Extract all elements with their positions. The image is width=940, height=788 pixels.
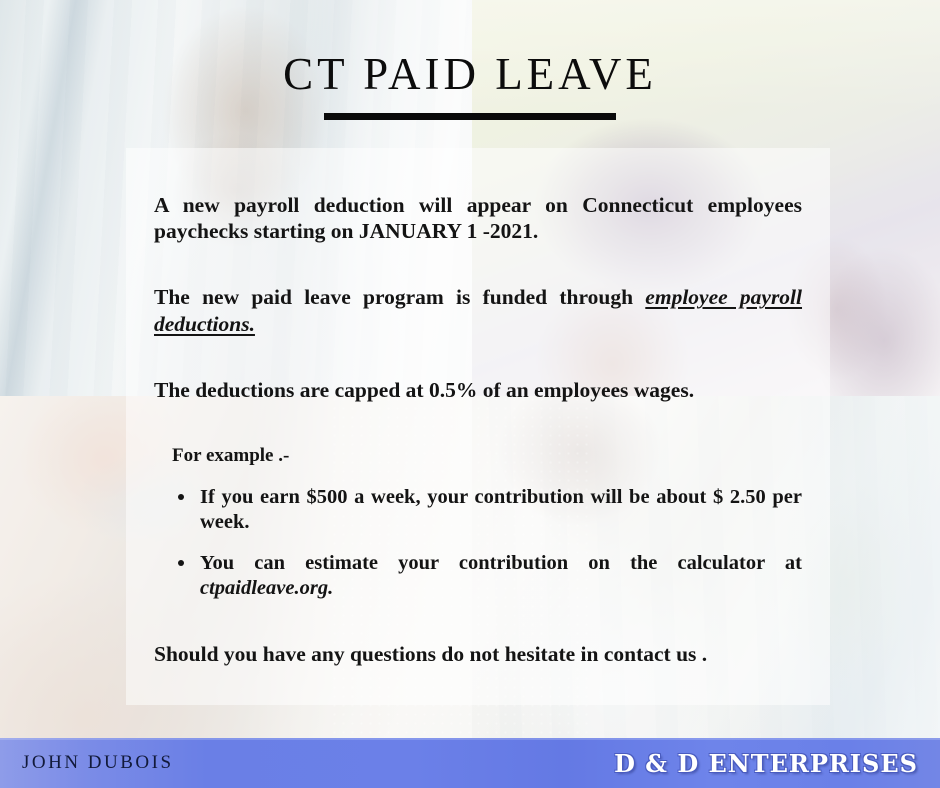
list-item-text: If you earn $500 a week, your contributi…: [200, 486, 802, 533]
list-item: If you earn $500 a week, your contributi…: [176, 485, 802, 535]
website-link-text[interactable]: ctpaidleave.org.: [200, 577, 333, 599]
paragraph-one: A new payroll deduction will appear on C…: [154, 192, 802, 244]
bullet-dot-icon: [178, 560, 184, 566]
title-underline-rule: [324, 113, 616, 120]
paragraph-two-lead: The new paid leave program is funded thr…: [154, 285, 645, 309]
paragraph-two: The new paid leave program is funded thr…: [154, 284, 802, 336]
footer-author-name: JOHN DUBOIS: [22, 752, 174, 774]
spacer: [154, 403, 802, 445]
content-body: A new payroll deduction will appear on C…: [126, 148, 830, 705]
ct-paid-leave-poster: CT PAID LEAVE A new payroll deduction wi…: [0, 0, 940, 788]
spacer: [154, 337, 802, 377]
footer-company-name: D & D ENTERPRISES: [614, 749, 918, 778]
bullet-dot-icon: [178, 494, 184, 500]
closing-paragraph: Should you have any questions do not hes…: [154, 641, 802, 667]
list-item: You can estimate your contribution on th…: [176, 551, 802, 601]
spacer: [154, 617, 802, 641]
spacer: [154, 244, 802, 284]
for-example-label: For example .-: [154, 445, 802, 467]
paragraph-three: The deductions are capped at 0.5% of an …: [154, 377, 802, 403]
example-bullet-list: If you earn $500 a week, your contributi…: [154, 485, 802, 601]
page-title: CT PAID LEAVE: [0, 52, 940, 97]
title-block: CT PAID LEAVE: [0, 52, 940, 120]
footer-bar: JOHN DUBOIS D & D ENTERPRISES: [0, 738, 940, 788]
list-item-text: You can estimate your contribution on th…: [200, 552, 802, 574]
